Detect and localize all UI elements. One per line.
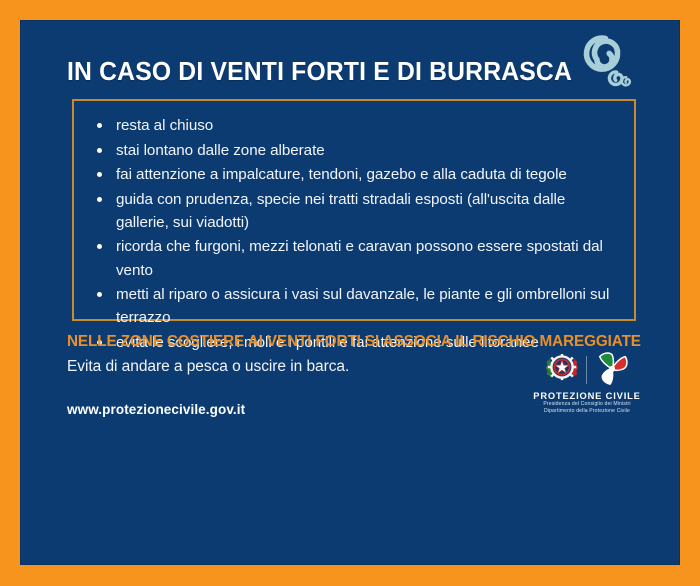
list-item: fai attenzione a impalcature, tendoni, g… (90, 163, 620, 186)
wind-swirl-icon (565, 25, 635, 87)
poster-header: IN CASO DI VENTI FORTI E DI BURRASCA (20, 20, 680, 99)
logo-name: PROTEZIONE CIVILE (525, 391, 649, 401)
advice-list: resta al chiuso stai lontano dalle zone … (74, 101, 634, 354)
italian-republic-emblem-icon (543, 350, 581, 391)
coastal-headline: NELLE ZONE COSTIERE AI VENTI FORTI SI AS… (67, 333, 648, 351)
protezione-civile-logo: PROTEZIONE CIVILE Presidenza del Consigl… (525, 350, 649, 414)
logo-subtitle-1: Presidenza del Consiglio dei Ministri (525, 401, 649, 408)
list-item: metti al riparo o assicura i vasi sul da… (90, 283, 620, 329)
list-item: resta al chiuso (90, 114, 620, 137)
list-item: ricorda che furgoni, mezzi telonati e ca… (90, 235, 620, 281)
list-item: guida con prudenza, specie nei tratti st… (90, 188, 620, 234)
website-link[interactable]: www.protezionecivile.gov.it (67, 402, 245, 417)
logo-marks (525, 350, 649, 390)
advice-box: resta al chiuso stai lontano dalle zone … (72, 99, 636, 321)
protezione-civile-triblade-icon (592, 349, 632, 392)
list-item: stai lontano dalle zone alberate (90, 139, 620, 162)
logo-divider (586, 356, 587, 384)
page-title: IN CASO DI VENTI FORTI E DI BURRASCA (67, 56, 572, 87)
poster-frame: IN CASO DI VENTI FORTI E DI BURRASCA (0, 0, 700, 586)
poster-card: IN CASO DI VENTI FORTI E DI BURRASCA (20, 20, 680, 565)
logo-subtitle-2: Dipartimento della Protezione Civile (525, 408, 649, 415)
